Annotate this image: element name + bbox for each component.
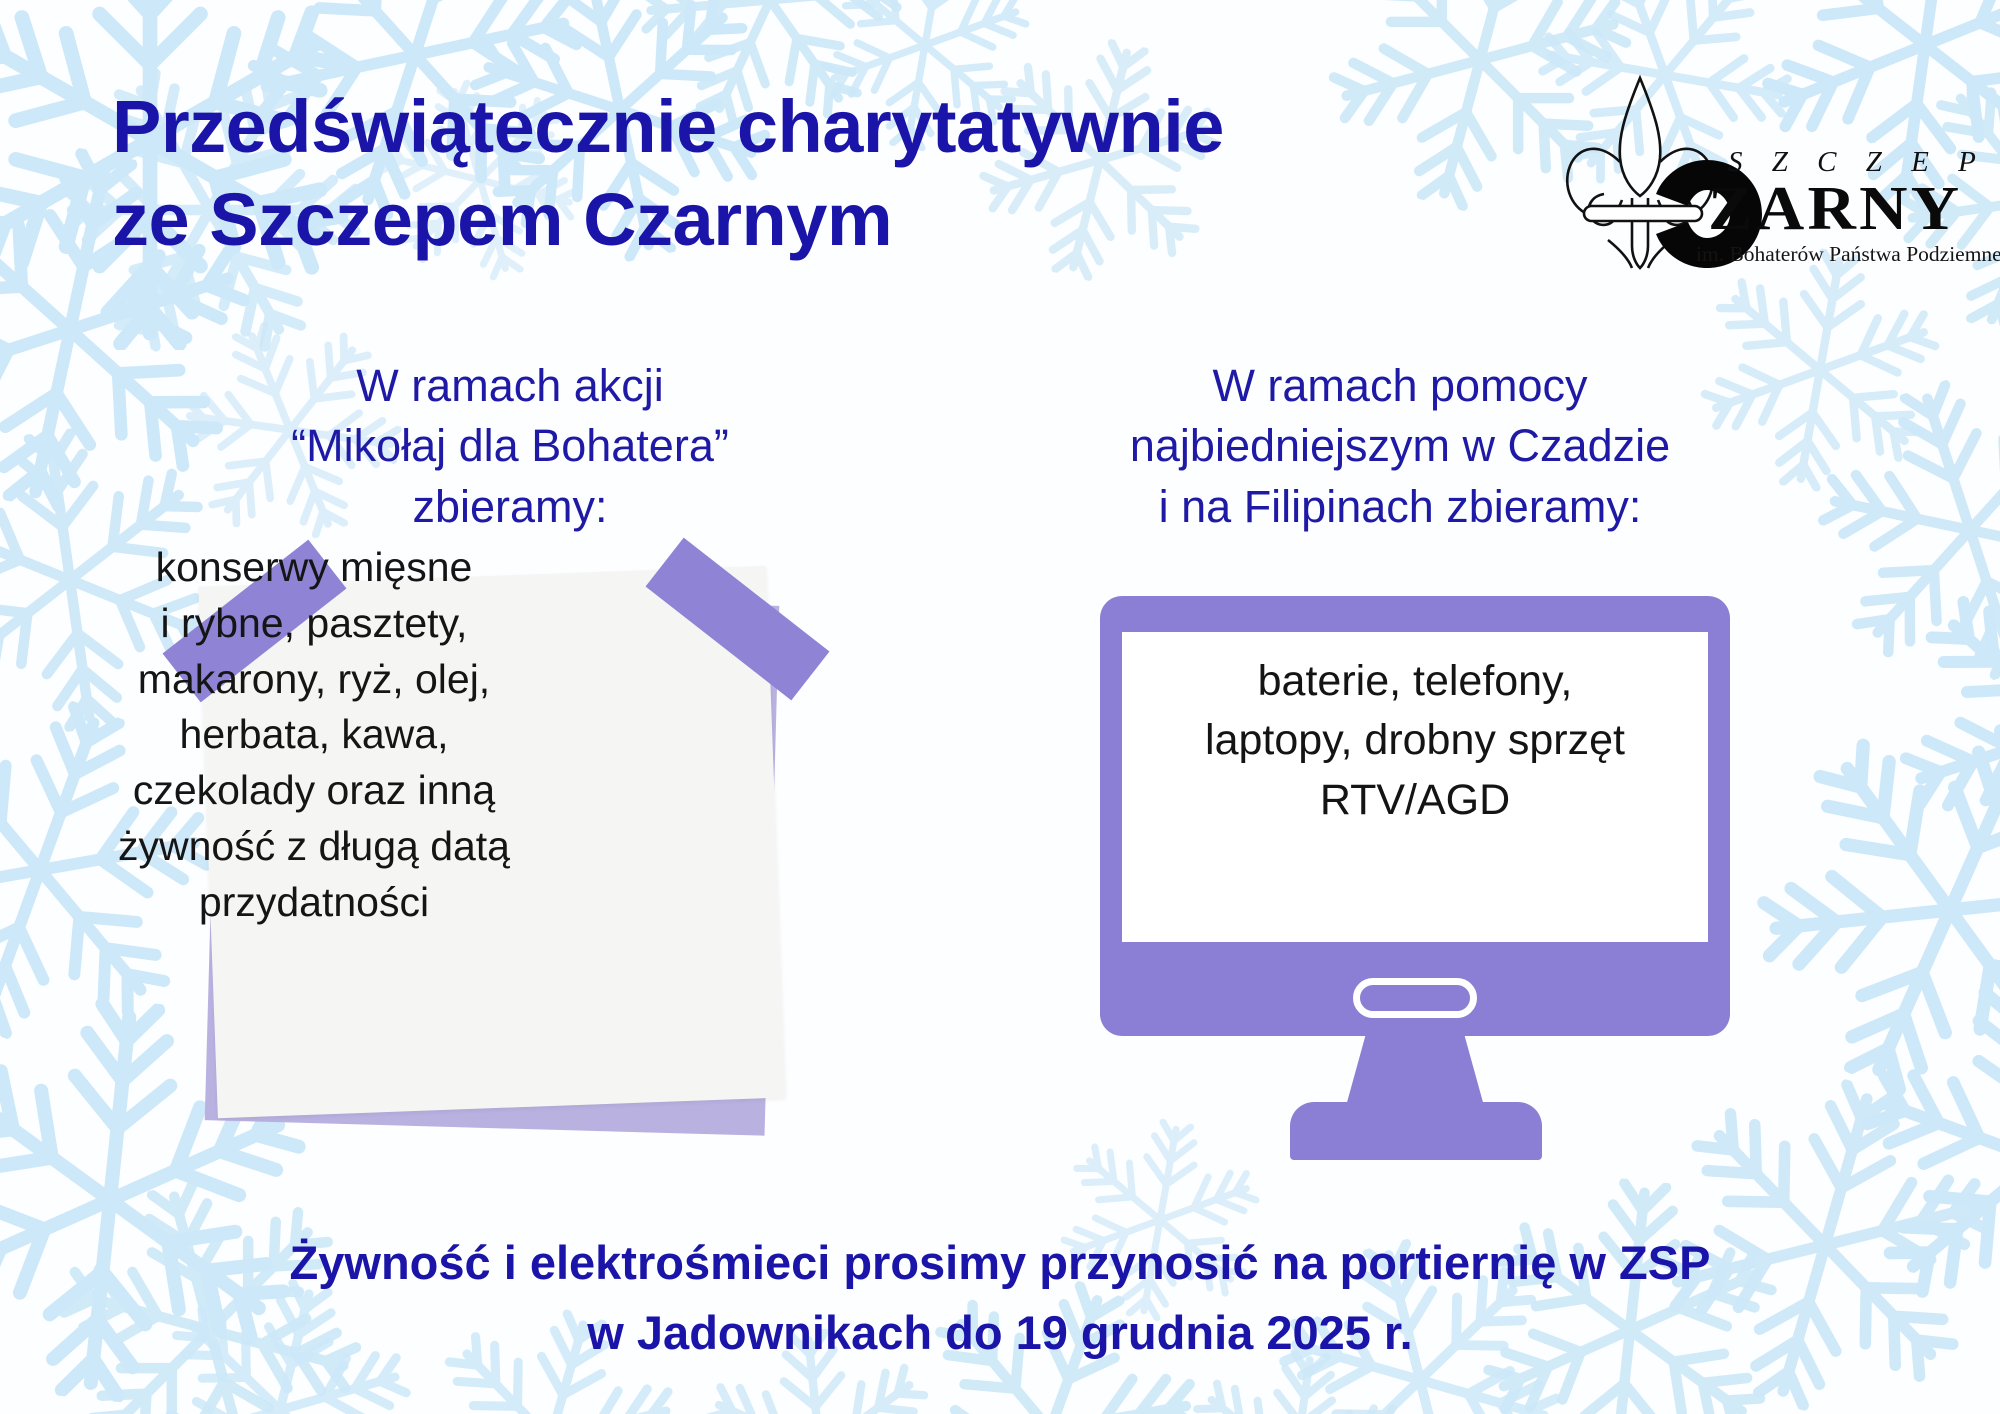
right-heading-line-1: W ramach pomocy	[1040, 356, 1760, 416]
note-line-1: konserwy mięsne	[34, 540, 594, 596]
note-line-4: herbata, kawa,	[34, 707, 594, 763]
poster-header: Przedświątecznie charytatywnie ze Szczep…	[0, 0, 2000, 300]
right-heading-line-3: i na Filipinach zbieramy:	[1040, 477, 1760, 537]
computer-monitor-icon: baterie, telefony, laptopy, drobny sprzę…	[1100, 596, 1730, 1156]
right-column-heading: W ramach pomocy najbiedniejszym w Czadzi…	[1040, 356, 1760, 537]
note-items-list: konserwy mięsne i rybne, pasztety, makar…	[34, 540, 594, 930]
left-heading-line-3: zbieramy:	[200, 477, 820, 537]
monitor-power-button-icon	[1353, 978, 1477, 1018]
page-title-line-1: Przedświątecznie charytatywnie	[112, 80, 1532, 173]
left-column-heading: W ramach akcji “Mikołaj dla Bohatera” zb…	[200, 356, 820, 537]
footer-instructions: Żywność i elektrośmieci prosimy przynosi…	[0, 1228, 2000, 1367]
monitor-line-1: baterie, telefony,	[1126, 652, 1704, 711]
left-heading-line-1: W ramach akcji	[200, 356, 820, 416]
logo-word-zarny: ZARNY	[1708, 174, 1962, 245]
note-line-5: czekolady oraz inną	[34, 763, 594, 819]
note-line-7: przydatności	[34, 875, 594, 931]
logo-subtitle: im. Bohaterów Państwa Podziemnego	[1696, 242, 2000, 267]
monitor-line-3: RTV/AGD	[1126, 771, 1704, 830]
left-heading-line-2: “Mikołaj dla Bohatera”	[200, 416, 820, 476]
monitor-neck	[1346, 1036, 1484, 1106]
footer-line-1: Żywność i elektrośmieci prosimy przynosi…	[0, 1228, 2000, 1298]
snowflake-icon	[1781, 341, 2000, 719]
page-title-line-2: ze Szczepem Czarnym	[112, 173, 1532, 266]
footer-line-2: w Jadownikach do 19 grudnia 2025 r.	[0, 1298, 2000, 1368]
monitor-base	[1290, 1102, 1542, 1160]
note-line-3: makarony, ryż, olej,	[34, 652, 594, 708]
poster-canvas: Przedświątecznie charytatywnie ze Szczep…	[0, 0, 2000, 1414]
monitor-line-2: laptopy, drobny sprzęt	[1126, 711, 1704, 770]
note-line-6: żywność z długą datą	[34, 819, 594, 875]
snowflake-icon	[1699, 659, 2000, 1161]
note-line-2: i rybne, pasztety,	[34, 596, 594, 652]
scout-troop-logo: S Z C Z E P ZARNY im. Bohaterów Państwa …	[1548, 70, 1978, 270]
snowflake-icon	[1868, 528, 2000, 931]
monitor-items-list: baterie, telefony, laptopy, drobny sprzę…	[1126, 652, 1704, 830]
page-title: Przedświątecznie charytatywnie ze Szczep…	[112, 80, 1532, 266]
right-heading-line-2: najbiedniejszym w Czadzie	[1040, 416, 1760, 476]
